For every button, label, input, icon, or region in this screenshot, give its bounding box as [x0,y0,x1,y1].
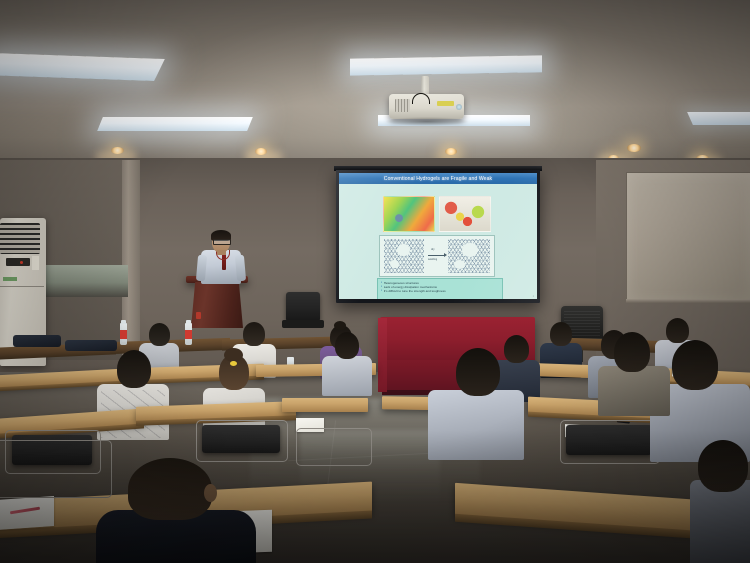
speaker [196,228,248,284]
projector-label [437,101,454,106]
audience-head [614,332,650,372]
water-bottle-cap [121,320,126,324]
diagram-arrow-head [444,253,447,257]
chair[interactable] [296,428,372,466]
air-conditioner-display[interactable] [6,258,30,266]
air-conditioner-louvers [0,223,40,254]
audience-head [243,322,265,346]
audience-head [672,340,718,390]
water-bottle-cap [186,320,191,324]
audience-head [550,322,572,346]
audience-member [598,332,670,412]
audience-body [598,366,670,416]
audience-ear [204,484,217,502]
audience-hair-bun [224,348,243,362]
audience-body [322,356,372,396]
audience-head [128,458,212,520]
slide-bullet-item: ▪ It's difficult to tune the strength an… [381,289,499,293]
recessed-downlight [627,144,641,152]
whiteboard-tray [626,299,750,303]
chair-backrest [566,425,652,455]
audience-member [96,458,256,563]
ceiling-light-panel [350,55,542,75]
paper-sheet [0,496,54,530]
network-pore [390,260,399,268]
chair[interactable] [286,292,320,322]
audience-head [698,440,748,492]
bag [13,335,61,347]
desk [282,398,368,412]
slide-title: Conventional Hydrogels are Fragile and W… [384,176,492,182]
slide-network-diagram: dry swelling [379,235,495,277]
ceiling-light-panel [97,117,253,131]
whiteboard [626,172,750,302]
bullet-marker-icon: ▪ [381,289,382,293]
network-pore [462,243,478,257]
network-pore [454,260,465,269]
air-conditioner-sticker [32,256,39,270]
projector-vent [395,99,410,112]
speaker-neck [217,250,226,255]
projection-screen: Conventional Hydrogels are Fragile and W… [336,170,540,303]
audience-head [335,332,359,359]
slide-photo-hydrogel-mesh [439,196,491,232]
slide-bullet-text: It's difficult to tune the strength and … [384,289,446,293]
diagram-arrow [428,255,444,256]
air-conditioner-brand-mark [3,277,17,281]
water-bottle-label [185,330,192,339]
speaker-glasses [213,239,231,245]
audience-member [322,332,372,392]
slide-page-number: 1 [533,295,534,298]
projector-shadow [386,117,468,126]
diagram-arrow-top-label: dry [431,248,435,251]
projector-cable [412,93,430,104]
network-pore [397,244,410,256]
projected-slide: Conventional Hydrogels are Fragile and W… [339,173,537,299]
sofa-right-section [378,318,387,392]
lecture-hall-photo: Conventional Hydrogels are Fragile and W… [0,0,750,563]
ceiling-light-panel [687,112,750,125]
audience-hair-bun [334,321,346,330]
audience-member [428,348,524,456]
slide-photo-hydrogel-samples [383,196,435,232]
slide-bullet-box: ▪ Heterogeneous structures ▪ Lack of ene… [377,278,503,299]
audience-body [428,390,524,460]
hair-tie [230,361,237,366]
audience-member [690,440,750,563]
air-conditioner-seam [0,286,44,287]
back-counter [44,265,128,297]
audience-body [690,480,750,563]
podium-emblem [196,312,201,319]
audience-head [117,350,151,388]
recessed-downlight [445,148,457,155]
diagram-arrow-bottom-label: swelling [428,258,437,261]
audience-head [149,323,170,346]
audience-head [456,348,500,396]
air-conditioner-power-led [20,261,23,264]
water-bottle-label [120,330,127,339]
slide-body: dry swelling ▪ Heterogeneous structures … [339,184,537,299]
chair-seat [282,320,324,328]
slide-title-bar: Conventional Hydrogels are Fragile and W… [339,173,537,184]
chair-backrest [202,425,280,453]
projector-lens [456,104,462,110]
speaker-arm-right [235,255,246,282]
